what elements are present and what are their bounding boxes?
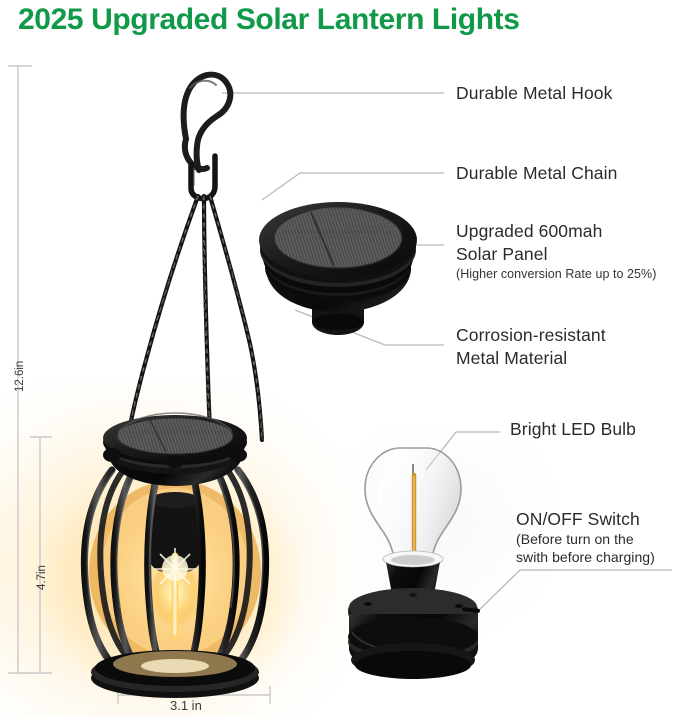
dimension-width: 3.1 in bbox=[170, 698, 202, 713]
callout-label-led-bulb: Bright LED Bulb bbox=[510, 418, 636, 441]
product-artwork bbox=[0, 0, 679, 717]
solar-panel-module bbox=[259, 202, 417, 335]
callout-label-onoff-switch: ON/OFF Switch bbox=[516, 508, 640, 531]
dimension-lines bbox=[8, 66, 270, 704]
inner-bulb bbox=[149, 548, 201, 636]
callout-note-onoff-line1: (Before turn on the bbox=[516, 530, 634, 548]
cage-back-ribs bbox=[100, 468, 249, 668]
callout-label-chain: Durable Metal Chain bbox=[456, 162, 617, 185]
hook-ring bbox=[191, 156, 215, 199]
dimension-height-total: 12.6in bbox=[14, 361, 26, 392]
callout-label-solar-panel-line2: Solar Panel bbox=[456, 243, 548, 266]
lantern-glow-outer bbox=[0, 380, 360, 717]
lantern-base-ring bbox=[91, 650, 259, 698]
solar-lantern bbox=[84, 413, 265, 698]
dimension-height-body: 4.7in bbox=[36, 565, 48, 590]
metal-chain bbox=[125, 196, 263, 447]
callout-label-solar-panel-line1: Upgraded 600mah bbox=[456, 220, 602, 243]
lantern-glow-inner bbox=[40, 470, 300, 700]
led-bulb-unit bbox=[348, 448, 480, 679]
onoff-switch bbox=[462, 607, 480, 613]
metal-hook bbox=[184, 75, 231, 170]
callout-label-hook: Durable Metal Hook bbox=[456, 82, 612, 105]
lantern-top-cap bbox=[103, 413, 247, 486]
callout-note-solar-panel: (Higher conversion Rate up to 25%) bbox=[456, 266, 656, 283]
callout-label-metal-line1: Corrosion-resistant bbox=[456, 324, 606, 347]
product-infographic: 2025 Upgraded Solar Lantern Lights bbox=[0, 0, 679, 717]
cage-front-ribs bbox=[84, 464, 265, 678]
callout-note-onoff-line2: swith before charging) bbox=[516, 548, 655, 566]
callout-label-metal-line2: Metal Material bbox=[456, 347, 567, 370]
page-title: 2025 Upgraded Solar Lantern Lights bbox=[18, 3, 520, 37]
